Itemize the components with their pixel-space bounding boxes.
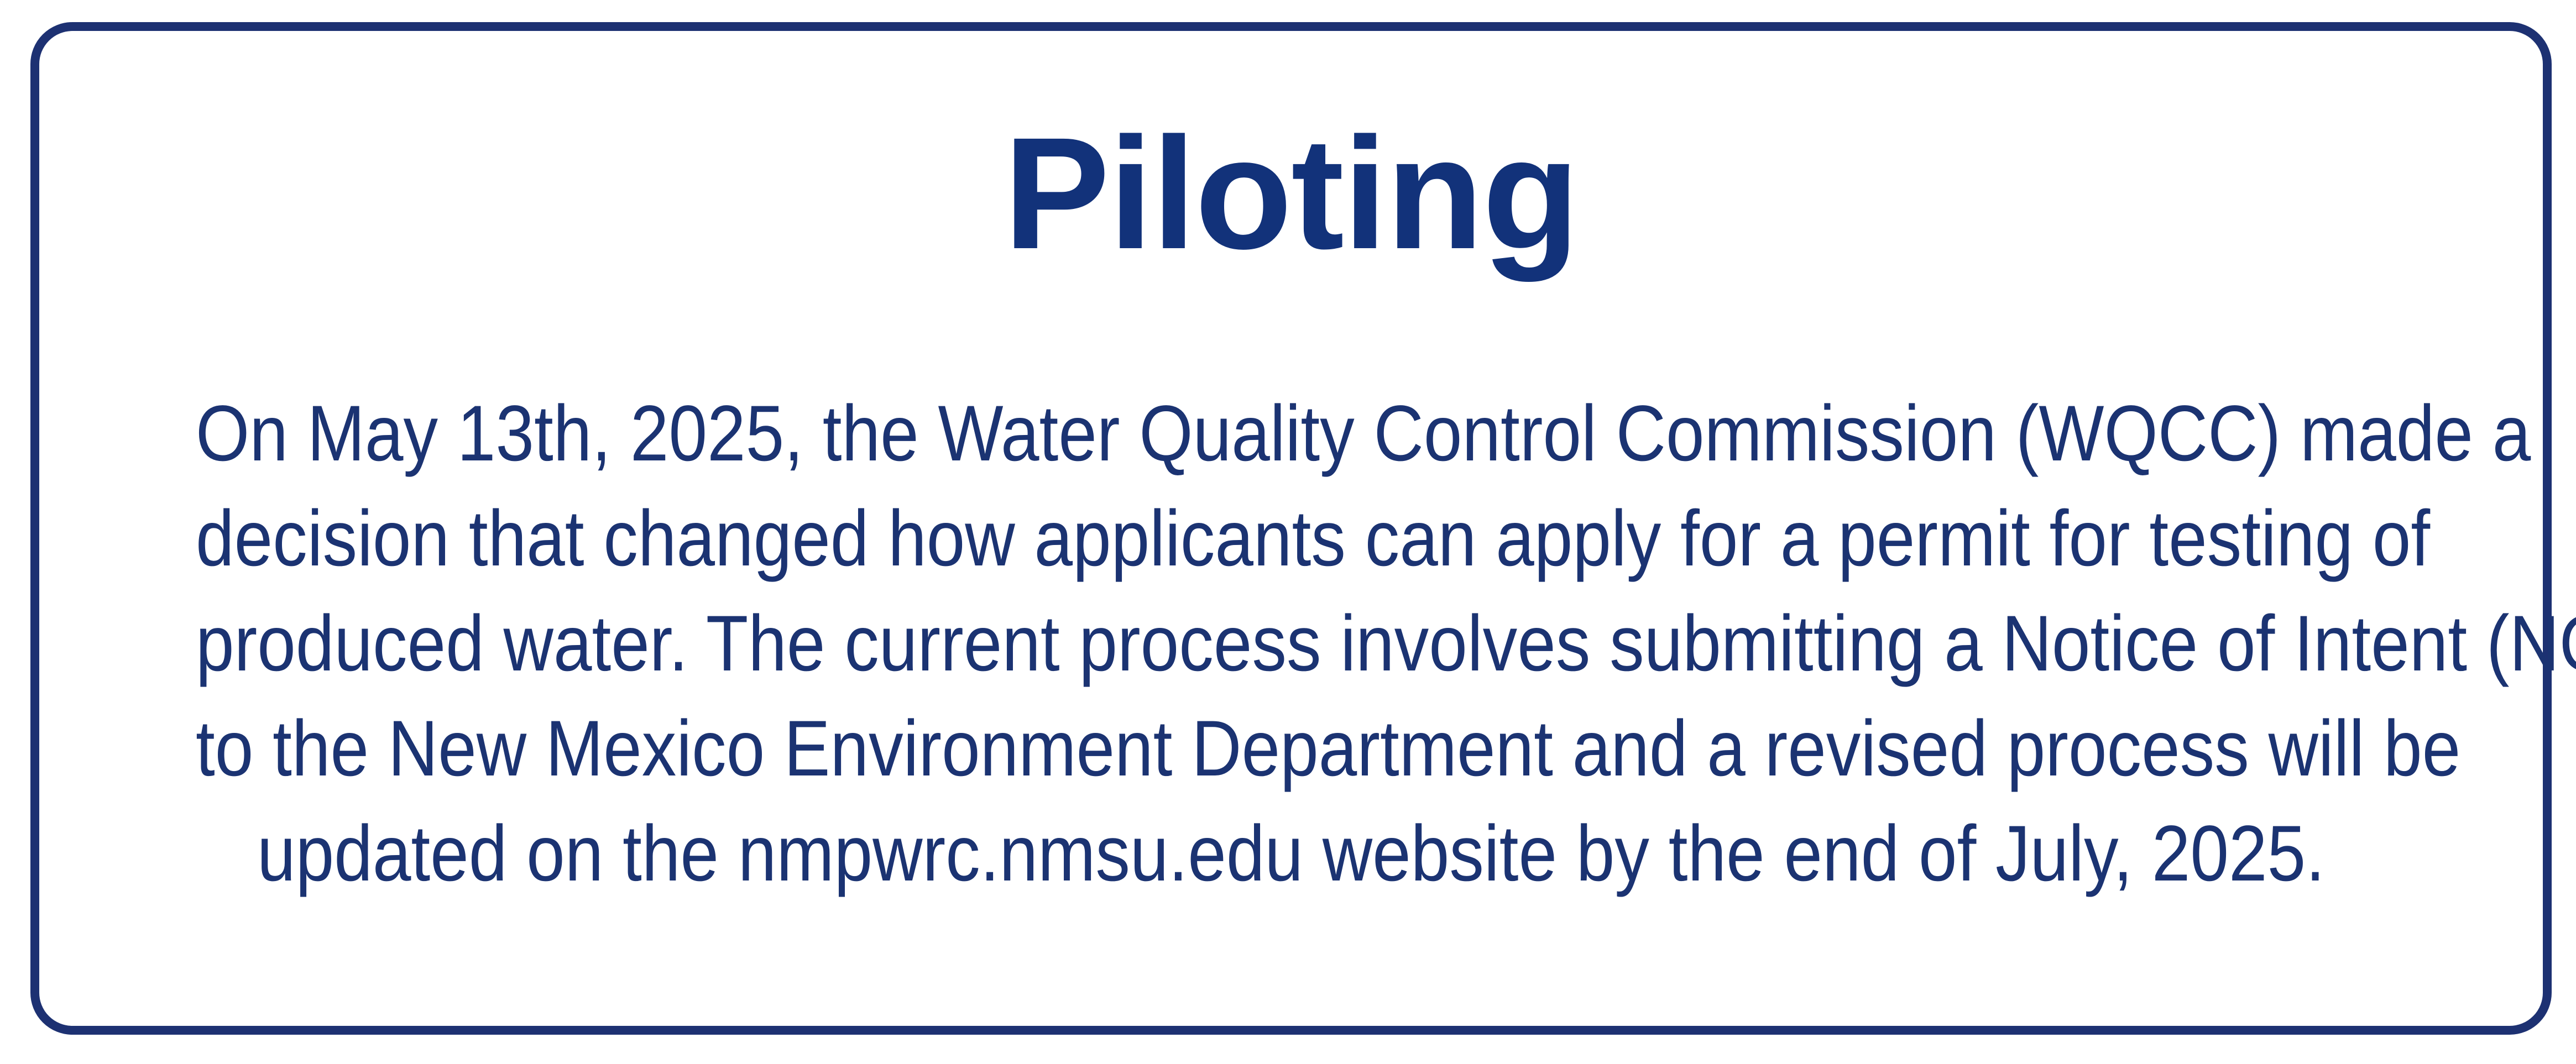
body-line-5: updated on the nmpwrc.nmsu.edu website b… — [196, 801, 2386, 906]
body-line-1: On May 13th, 2025, the Water Quality Con… — [196, 381, 2386, 486]
body-line-3: produced water. The current process invo… — [196, 591, 2386, 696]
callout-body-text: On May 13th, 2025, the Water Quality Con… — [39, 273, 2543, 906]
piloting-callout-card: Piloting On May 13th, 2025, the Water Qu… — [30, 22, 2552, 1035]
page-canvas: Piloting On May 13th, 2025, the Water Qu… — [0, 0, 2576, 1064]
body-line-2: decision that changed how applicants can… — [196, 486, 2386, 591]
page-title: Piloting — [39, 31, 2543, 273]
body-line-4: to the New Mexico Environment Department… — [196, 696, 2386, 801]
